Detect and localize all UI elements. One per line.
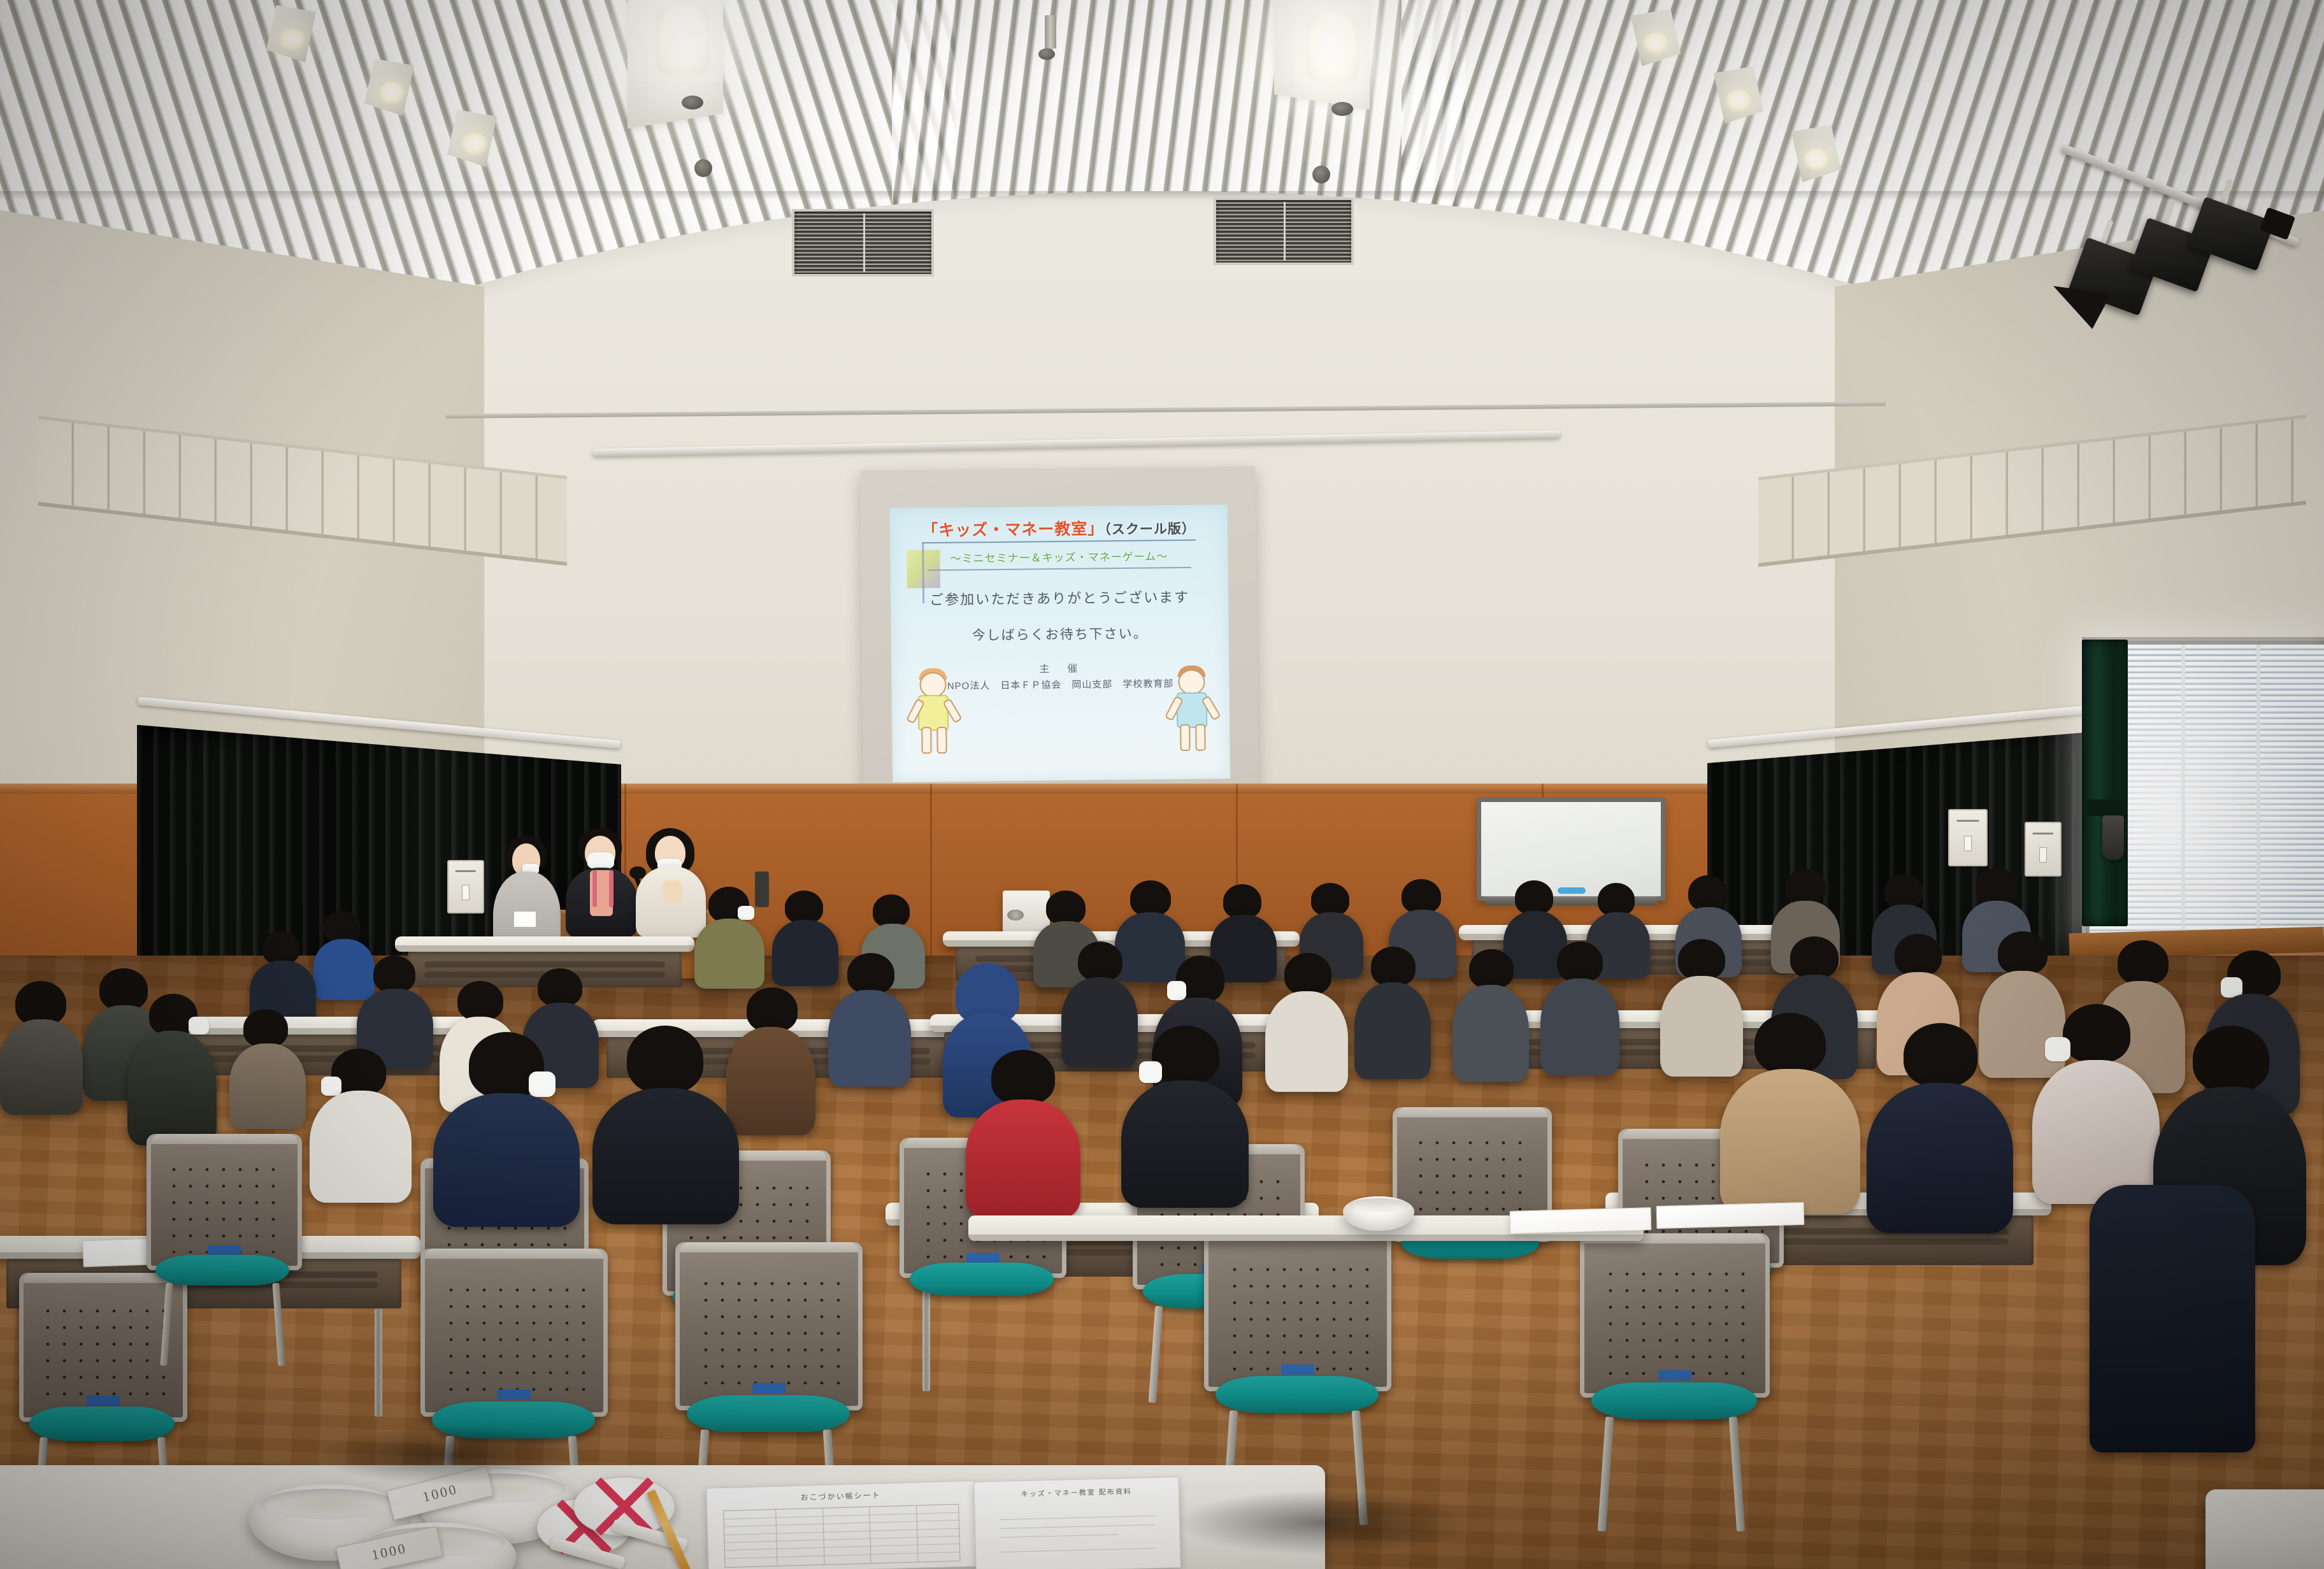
presenter-hands [663, 880, 682, 903]
attendee-b2 [250, 931, 316, 1021]
attendee-m9 [828, 953, 911, 1080]
slide-host-label: 主 催 [1039, 660, 1081, 676]
attendee-f1 [433, 1032, 580, 1210]
seminar-hall-scene: 「キッズ・マネー教室」（スクール版） ～ミニセミナー＆キッズ・マネーゲーム～ ご… [0, 0, 2324, 1569]
slide-title: 「キッズ・マネー教室」（スクール版） [922, 515, 1196, 543]
handout[interactable]: キッズ・マネー教室 配布資料 [973, 1477, 1180, 1569]
ceiling-speaker-left [682, 96, 703, 110]
ceiling-speaker-right [1331, 102, 1353, 116]
downlight-lamp-6 [1803, 148, 1831, 171]
downlight-lamp-2 [377, 82, 405, 104]
attendee-b3 [694, 887, 764, 982]
attendee-m3 [127, 994, 217, 1140]
ceiling-vent-right [1214, 197, 1354, 265]
ceiling-lamp-left [656, 6, 710, 75]
ceiling-sprinkler-right [1312, 166, 1330, 183]
attendee-m15 [1452, 949, 1529, 1077]
ceiling-fixture-center [1038, 48, 1055, 60]
attendee-m4 [229, 1009, 306, 1124]
ceiling-hanger-center [1045, 15, 1056, 48]
attendee-m13 [1265, 953, 1348, 1087]
presenter-name-card-left [513, 911, 536, 928]
ceiling-lamp-right [1306, 13, 1359, 82]
wall-switch-plate-left [447, 860, 484, 913]
window-curtain-green [2082, 640, 2128, 926]
downlight-lamp-3 [460, 133, 488, 155]
attendee-f5 [1121, 1026, 1249, 1198]
ceiling-vent-left [792, 209, 934, 276]
attendee-f2 [592, 1026, 739, 1204]
wall-switch-plate-center [1948, 809, 1988, 866]
downlight-lamp-5 [1725, 89, 1753, 112]
attendee-r1 [1720, 1013, 1860, 1204]
curtain-tieback [2087, 799, 2124, 816]
slide-subtitle: ～ミニセミナー＆キッズ・マネーゲーム～ [950, 547, 1168, 566]
slide-body-line1: ご参加いただきありがとうございます [929, 586, 1189, 609]
attendee-r3 [2032, 1004, 2160, 1195]
projection-screen: 「キッズ・マネー教室」（スクール版） ～ミニセミナー＆キッズ・マネーゲーム～ ご… [860, 466, 1259, 836]
slide-content: 「キッズ・マネー教室」（スクール版） ～ミニセミナー＆キッズ・マネーゲーム～ ご… [890, 505, 1230, 782]
worksheet[interactable]: おこづかい帳シート [706, 1480, 977, 1569]
presenter-center [564, 828, 638, 930]
attendee-m14 [1354, 947, 1431, 1074]
attendee-m16 [1540, 942, 1619, 1069]
attendee-r2-child [1867, 1023, 2013, 1221]
attendee-m5 [357, 956, 433, 1064]
attendee-f4-child [966, 1050, 1080, 1209]
ceiling-sprinkler-left [694, 159, 712, 177]
slide-host-org: NPO法人 日本ＦＰ協会 岡山支部 学校教育部 [947, 677, 1174, 692]
attendee-f3-child [310, 1049, 412, 1195]
attendee-m2 [0, 981, 83, 1108]
sheet-near-right2[interactable] [1656, 1202, 1805, 1229]
attendee-m8 [726, 987, 815, 1128]
wall-speaker [2102, 815, 2124, 860]
downlight-lamp-1 [278, 28, 306, 51]
slide-divider [928, 567, 1191, 571]
table-foreground-right [2206, 1489, 2324, 1569]
sheet-near-right[interactable] [1510, 1207, 1652, 1234]
slide-kid-girl-icon [905, 667, 961, 763]
attendee-r5-foreground [2090, 1185, 2255, 1452]
worksheet-grid [723, 1503, 960, 1568]
downlight-lamp-4 [1642, 32, 1670, 55]
table-back-left [395, 936, 694, 952]
slide-kid-boy-icon [1164, 664, 1220, 760]
slide-body-line2: 今しばらくお待ち下さい。 [972, 624, 1148, 645]
